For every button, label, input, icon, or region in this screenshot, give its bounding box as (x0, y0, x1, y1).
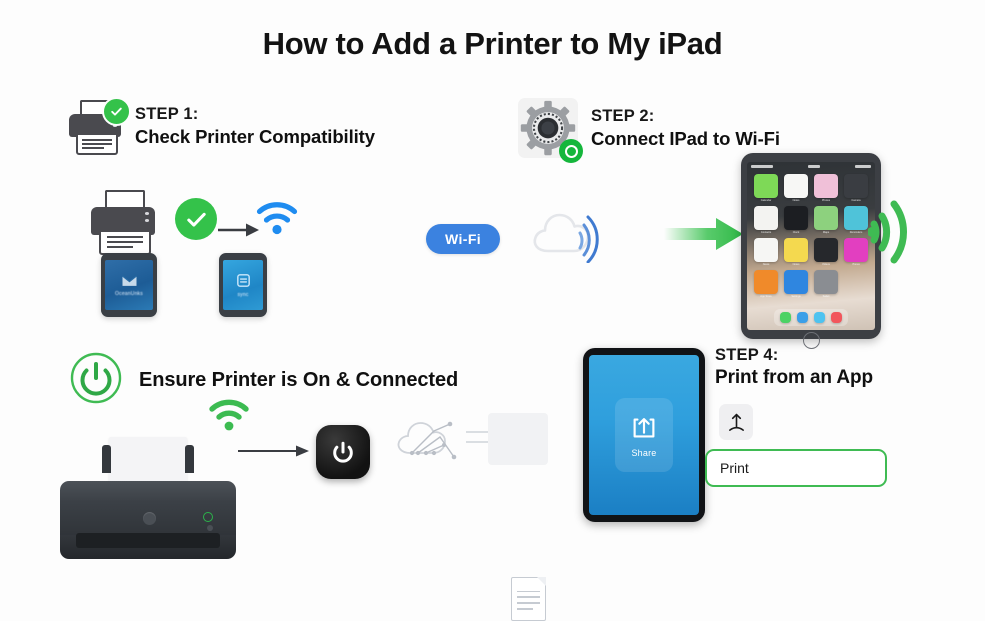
wifi-pill-button[interactable]: Wi-Fi (426, 224, 500, 254)
step-4-kicker: STEP 4: (715, 345, 873, 366)
app-tile (814, 206, 838, 230)
app-label: Calendar (761, 199, 772, 202)
app-label: Reminders (850, 231, 863, 234)
ipad-app-icon[interactable]: Videos (814, 238, 838, 266)
ipad-dock-icon[interactable] (797, 312, 808, 323)
step-1-kicker: STEP 1: (135, 104, 375, 125)
power-circle-icon (70, 352, 122, 409)
ipad-app-icon[interactable]: Settings (784, 270, 808, 298)
ipad-dock (774, 309, 848, 326)
app-tile (844, 238, 868, 262)
printer-photo-icon (60, 467, 236, 563)
app-label: Notes (793, 199, 800, 202)
ipad-dock-icon[interactable] (780, 312, 791, 323)
green-gradient-arrow-icon (664, 215, 744, 258)
ipad-app-grid: CalendarNotesPhotosCameraContactsClockMa… (754, 174, 868, 298)
app-tile (784, 270, 808, 294)
step-3-text: Ensure Printer is On & Connected (139, 368, 458, 394)
tablet-app-left: OceanUnks (101, 253, 157, 317)
tablet-app-right: sync (219, 253, 267, 317)
app-tile (784, 174, 808, 198)
step-2-text: STEP 2: Connect IPad to Wi-Fi (591, 106, 780, 151)
step-1-headline: Check Printer Compatibility (135, 125, 375, 149)
blue-wifi-icon (255, 200, 299, 241)
share-tablet: Share (583, 348, 705, 522)
share-up-arrow-icon[interactable] (719, 404, 753, 440)
cloud-wifi-icon (528, 205, 612, 268)
gear-status-badge-icon (559, 139, 583, 163)
ipad-app-icon[interactable]: Notes (784, 238, 808, 266)
illustration-green-check-icon (175, 198, 217, 240)
app-tile (814, 174, 838, 198)
app-tile (784, 238, 808, 262)
step-3-heading: Ensure Printer is On & Connected (70, 352, 458, 409)
share-tile[interactable]: Share (615, 398, 673, 472)
step-1-text: STEP 1: Check Printer Compatibility (135, 104, 375, 149)
step-2-heading: STEP 2: Connect IPad to Wi-Fi (518, 98, 780, 158)
ipad-status-bar (747, 164, 875, 169)
step-1-heading: STEP 1: Check Printer Compatibility (68, 100, 375, 152)
share-label: Share (631, 448, 656, 458)
app-label: Videos (822, 263, 830, 266)
tablet-right-glyph-icon (235, 272, 252, 289)
ipad-app-icon[interactable]: Maps (814, 206, 838, 234)
app-label: Camera (851, 199, 860, 202)
app-label: Safari (823, 295, 830, 298)
right-arrow-icon (218, 222, 260, 243)
step-4-heading: STEP 4: Print from an App (715, 345, 873, 390)
illustration-printer-icon (90, 190, 156, 252)
ipad-app-icon[interactable]: News (754, 238, 778, 266)
app-tile (754, 206, 778, 230)
green-wifi-icon (208, 398, 250, 437)
tablet-right-caption: sync (237, 292, 248, 298)
ipad-dock-icon[interactable] (814, 312, 825, 323)
app-label: Clock (793, 231, 800, 234)
app-tile (754, 270, 778, 294)
gear-settings-icon (518, 98, 578, 158)
app-tile (844, 206, 868, 230)
ipad-home-screen: CalendarNotesPhotosCameraContactsClockMa… (741, 153, 881, 339)
ipad-app-icon[interactable]: Calendar (754, 174, 778, 202)
app-label: News (763, 263, 770, 266)
right-arrow-icon-2 (238, 443, 310, 464)
ipad-dock-icon[interactable] (831, 312, 842, 323)
app-tile (754, 174, 778, 198)
document-shadow (488, 413, 548, 465)
app-label: Maps (823, 231, 829, 234)
step-2-headline: Connect IPad to Wi-Fi (591, 127, 780, 151)
share-icon (629, 413, 659, 443)
ipad-app-icon[interactable]: Camera (844, 174, 868, 202)
app-tile (784, 206, 808, 230)
tablet-left-caption: OceanUnks (115, 291, 143, 297)
step-3-headline: Ensure Printer is On & Connected (139, 368, 458, 394)
ipad-app-icon[interactable]: App Store (754, 270, 778, 298)
ipad-app-icon[interactable]: Photos (814, 174, 838, 202)
step-4-headline: Print from an App (715, 366, 873, 390)
ipad-app-icon[interactable]: iTunes (844, 238, 868, 266)
share-tablet-screen: Share (589, 355, 699, 515)
ipad-screen: CalendarNotesPhotosCameraContactsClockMa… (747, 162, 875, 330)
tablet-left-glyph-icon (121, 274, 138, 288)
step-2-kicker: STEP 2: (591, 106, 780, 127)
tablet-left-screen: OceanUnks (105, 260, 153, 310)
document-icon (511, 577, 546, 621)
app-tile (754, 238, 778, 262)
app-label: Photos (822, 199, 830, 202)
app-label: App Store (760, 295, 772, 298)
infographic-canvas: How to Add a Printer to My iPad STEP 1: … (0, 0, 985, 537)
tablet-right-screen: sync (223, 260, 263, 310)
print-button[interactable]: Print (705, 449, 887, 487)
ipad-app-icon[interactable]: Safari (814, 270, 838, 298)
app-tile (814, 270, 838, 294)
ipad-app-icon[interactable]: Notes (784, 174, 808, 202)
printer-check-icon (68, 100, 122, 152)
ipad-app-icon[interactable]: Reminders (844, 206, 868, 234)
app-tile (814, 238, 838, 262)
app-label: iTunes (852, 263, 860, 266)
green-wifi-signal-icon (868, 196, 928, 273)
app-label: Contacts (761, 231, 771, 234)
power-icon[interactable] (316, 425, 370, 479)
page-title: How to Add a Printer to My iPad (0, 26, 985, 62)
app-tile (844, 174, 868, 198)
ipad-app-icon[interactable]: Contacts (754, 206, 778, 234)
app-label: Notes (793, 263, 800, 266)
green-check-icon (102, 97, 131, 126)
ipad-app-icon[interactable]: Clock (784, 206, 808, 234)
app-label: Settings (791, 295, 800, 298)
